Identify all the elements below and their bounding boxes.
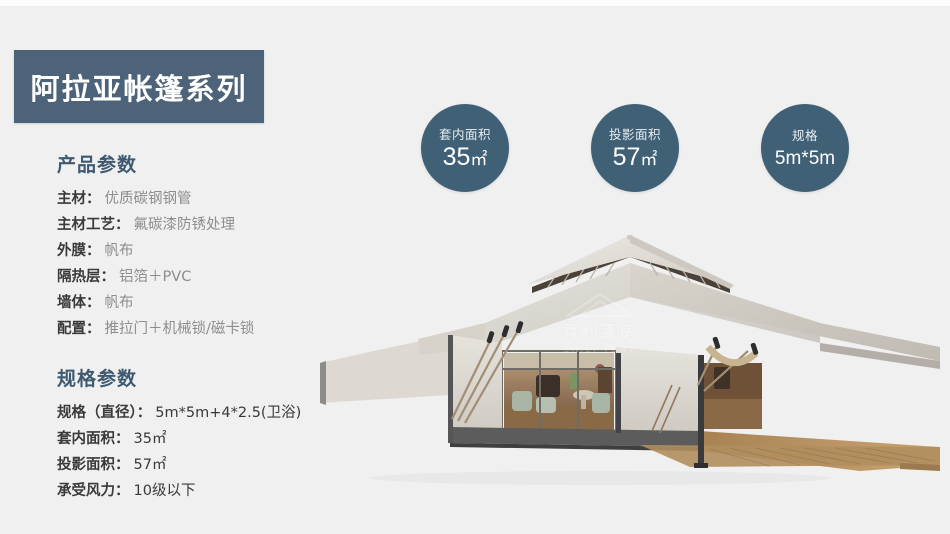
armchair-left (512, 391, 532, 411)
spec-value: 35㎡ (134, 431, 167, 447)
post-outer (448, 335, 453, 443)
top-strip (0, 0, 950, 6)
armchair-right (592, 393, 610, 413)
page-title: 阿拉亚帐篷系列 (30, 66, 247, 108)
page-root: 阿拉亚帐篷系列 产品参数 主材： 优质碳钢钢管 主材工艺： 氟碳漆防锈处理 外膜… (0, 0, 950, 534)
spec-label: 承受风力： (57, 483, 130, 499)
cabinet (598, 367, 612, 393)
spec-label: 规格（直径）： (57, 405, 151, 421)
badge-value: 5m*5m (775, 145, 835, 172)
spec-label: 主材： (57, 191, 101, 207)
title-banner: 阿拉亚帐篷系列 (14, 50, 264, 123)
spec-label: 隔热层： (57, 269, 115, 285)
tent-illustration (300, 235, 950, 500)
spec-value: 铝箔＋PVC (119, 269, 191, 285)
spec-row: 主材： 优质碳钢钢管 (57, 186, 357, 212)
badge-projected-area: 投影面积 57㎡ (591, 104, 679, 192)
spec-label: 套内面积： (57, 431, 130, 447)
spec-label: 配置： (57, 321, 101, 337)
spec-label: 投影面积： (57, 457, 130, 473)
badge-value: 57㎡ (613, 144, 658, 173)
plant (570, 373, 578, 389)
spec-value: 10级以下 (134, 483, 196, 499)
ground-shadow (370, 471, 830, 485)
left-wall (450, 335, 502, 433)
post-left (616, 353, 621, 433)
spec-label: 墙体： (57, 295, 101, 311)
post-mid (698, 355, 704, 465)
badge-label: 套内面积 (439, 124, 491, 143)
spec-value: 推拉门＋机械锁/磁卡锁 (105, 321, 255, 337)
spec-value: 57㎡ (134, 457, 167, 473)
spec-label: 主材工艺： (57, 217, 130, 233)
badge-label: 投影面积 (609, 124, 661, 143)
badge-label: 规格 (792, 125, 818, 144)
badge-value: 35㎡ (443, 144, 488, 173)
product-section-heading: 产品参数 (57, 150, 357, 177)
spec-value: 优质碳钢钢管 (105, 191, 192, 207)
spec-value: 帆布 (105, 243, 134, 259)
spec-value: 氟碳漆防锈处理 (134, 217, 236, 233)
spec-value: 5m*5m+4*2.5(卫浴) (155, 405, 301, 421)
badge-dimensions: 规格 5m*5m (761, 104, 849, 192)
spec-label: 外膜： (57, 243, 101, 259)
badge-interior-area: 套内面积 35㎡ (421, 104, 509, 192)
spec-value: 帆布 (105, 295, 134, 311)
